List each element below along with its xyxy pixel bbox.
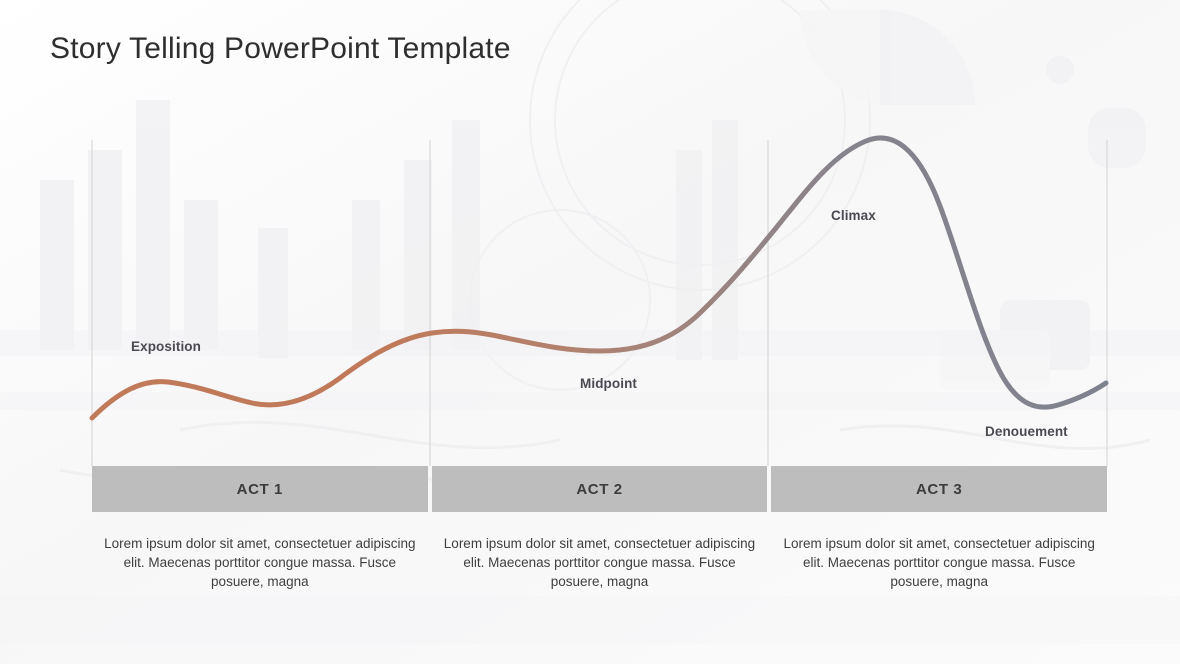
act-banner-cell-1[interactable]: ACT 1 [92,466,428,512]
act-banner-cell-2[interactable]: ACT 2 [432,466,768,512]
act-description-1: Lorem ipsum dolor sit amet, consectetuer… [92,534,428,591]
act-description-row: Lorem ipsum dolor sit amet, consectetuer… [92,534,1107,591]
stage-label-exposition: Exposition [131,339,201,354]
act-banner: ACT 1 ACT 2 ACT 3 [92,466,1107,512]
act-banner-cell-3[interactable]: ACT 3 [771,466,1107,512]
act-description-3: Lorem ipsum dolor sit amet, consectetuer… [771,534,1107,591]
slide-canvas: Story Telling PowerPoint Template [0,0,1180,664]
stage-label-midpoint: Midpoint [580,376,637,391]
act-description-2: Lorem ipsum dolor sit amet, consectetuer… [432,534,768,591]
stage-label-denouement: Denouement [985,424,1068,439]
act-divider-lines [92,140,1107,466]
stage-label-climax: Climax [831,208,876,223]
